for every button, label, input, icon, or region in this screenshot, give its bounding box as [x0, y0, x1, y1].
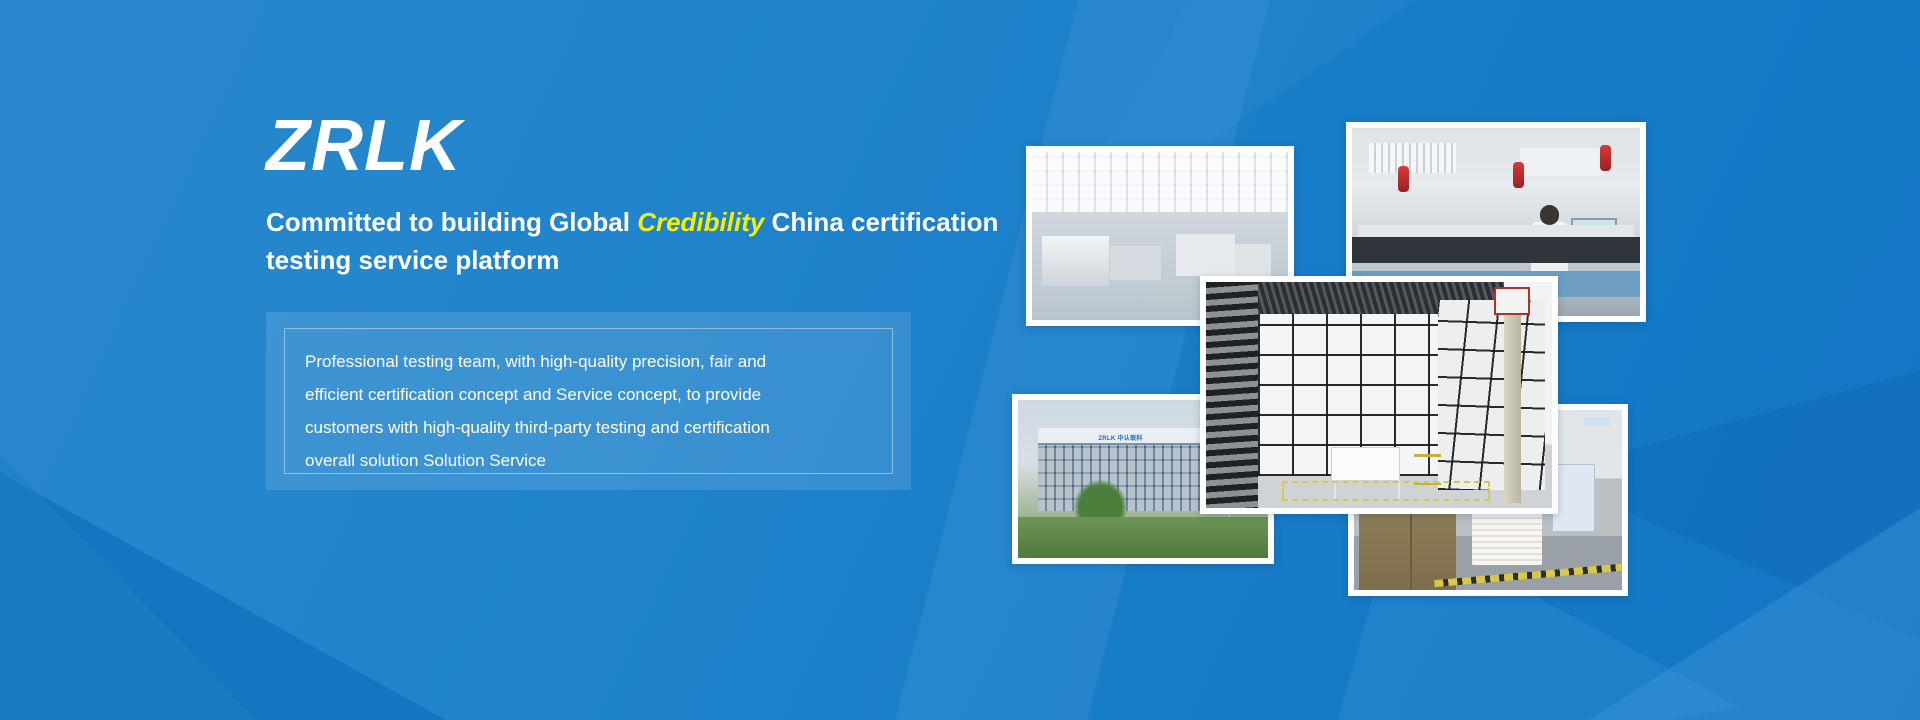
computer-monitor-icon — [1571, 218, 1617, 252]
hero-banner: ZRLK Committed to building Global Credib… — [0, 0, 1920, 720]
emc-chamber-photo — [1200, 276, 1558, 514]
antenna-mast — [1504, 287, 1521, 504]
floor-hazard-tape — [1434, 564, 1621, 587]
emc-chamber-image — [1206, 282, 1552, 508]
emc-chamber-photo-frame — [1206, 282, 1552, 508]
photo-collage: ZRLK 中认联科 — [0, 0, 1920, 720]
hedge-row — [1018, 517, 1268, 558]
fume-extractor-arm-icon — [1600, 145, 1611, 171]
fume-extractor-arm-icon — [1513, 162, 1524, 188]
ceiling-light-icon — [1584, 417, 1611, 426]
test-table — [1331, 447, 1400, 481]
wrapped-panel — [1552, 464, 1595, 532]
building-sign-logo: ZRLK 中认联科 — [1078, 432, 1163, 445]
chamber-right-wall-panels — [1438, 300, 1545, 490]
chamber-pyramidal-absorbers — [1206, 282, 1258, 508]
floor-marking-tape — [1282, 481, 1490, 501]
fume-extractor-arm-icon — [1398, 166, 1409, 192]
